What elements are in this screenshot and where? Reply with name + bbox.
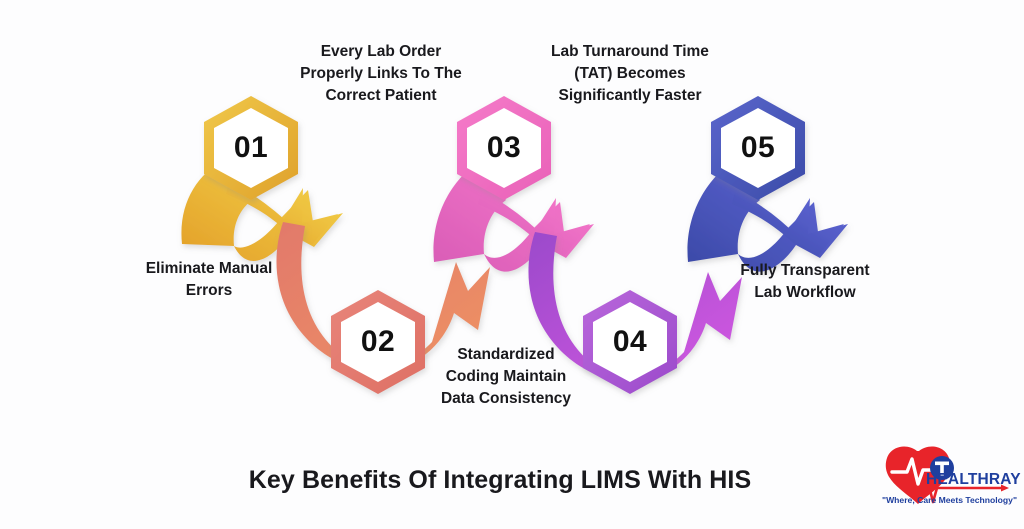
caption-step-2-line-2: Coding Maintain bbox=[412, 366, 600, 388]
caption-step-5-line-2: Lab Workflow bbox=[722, 282, 888, 304]
brand-tagline: "Where, Care Meets Technology" bbox=[882, 495, 1017, 505]
caption-step-3-line-3: Correct Patient bbox=[278, 85, 484, 107]
caption-step-3-line-2: Properly Links To The bbox=[278, 63, 484, 85]
caption-step-4: Lab Turnaround Time (TAT) Becomes Signif… bbox=[526, 41, 734, 107]
caption-step-1-line-2: Errors bbox=[118, 280, 300, 302]
caption-step-4-line-2: (TAT) Becomes bbox=[526, 63, 734, 85]
caption-step-2: Standardized Coding Maintain Data Consis… bbox=[412, 344, 600, 410]
caption-step-4-line-1: Lab Turnaround Time bbox=[526, 41, 734, 63]
hexagon-step-2[interactable] bbox=[331, 290, 425, 394]
caption-step-5-line-1: Fully Transparent bbox=[722, 260, 888, 282]
caption-step-2-line-1: Standardized bbox=[412, 344, 600, 366]
caption-step-2-line-3: Data Consistency bbox=[412, 388, 600, 410]
caption-step-1-line-1: Eliminate Manual bbox=[118, 258, 300, 280]
healthray-logo[interactable]: HEALTHRAY "Where, Care Meets Technology" bbox=[879, 444, 1011, 516]
caption-step-3: Every Lab Order Properly Links To The Co… bbox=[278, 41, 484, 107]
caption-step-3-line-1: Every Lab Order bbox=[278, 41, 484, 63]
infographic-canvas: 01 02 03 04 05 Eliminate Manual Errors S… bbox=[0, 0, 1024, 529]
page-title: Key Benefits Of Integrating LIMS With HI… bbox=[0, 466, 1000, 495]
caption-step-4-line-3: Significantly Faster bbox=[526, 85, 734, 107]
caption-step-5: Fully Transparent Lab Workflow bbox=[722, 260, 888, 304]
caption-step-1: Eliminate Manual Errors bbox=[118, 258, 300, 302]
brand-name: HEALTHRAY bbox=[926, 471, 1021, 489]
